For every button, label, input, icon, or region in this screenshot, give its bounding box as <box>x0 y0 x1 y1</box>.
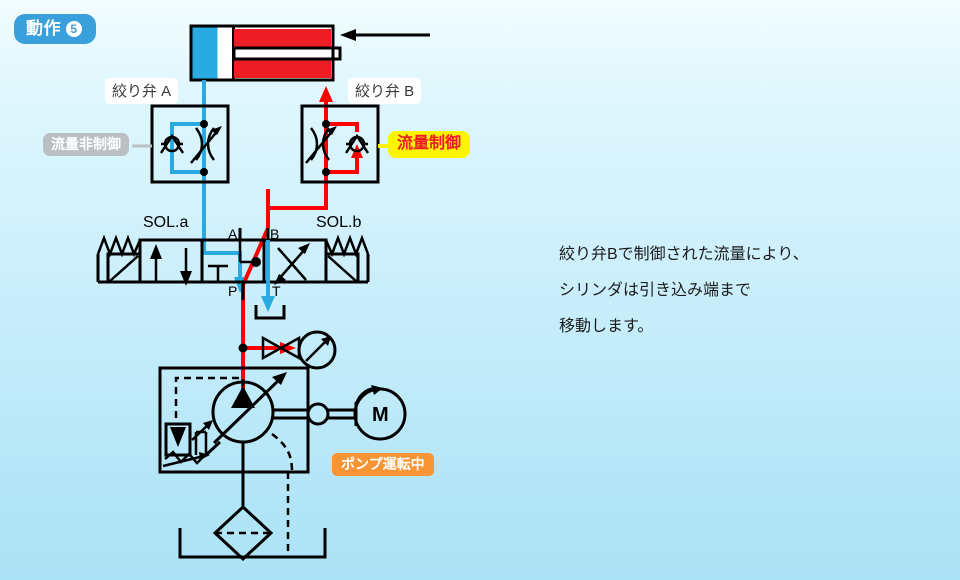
solenoid-a-actuator <box>108 254 140 282</box>
port-b-label: B <box>270 226 279 242</box>
cylinder-chamber-red-upper <box>234 29 331 48</box>
step-badge-number: 5 <box>66 21 82 37</box>
throttle-valve-a-label: 絞り弁 A <box>105 78 178 104</box>
shaft-coupling <box>308 402 356 426</box>
port-p-label: P <box>228 283 237 299</box>
solenoid-b-label: SOL.b <box>316 214 361 232</box>
throttle-valve-b-label: 絞り弁 B <box>348 78 421 104</box>
pressure-gauge <box>299 332 335 368</box>
pressure-compensator <box>163 378 243 466</box>
solenoid-b-actuator <box>326 254 358 282</box>
port-t-label: T <box>272 283 281 299</box>
piston-rod <box>234 48 340 59</box>
directional-control-valve <box>98 238 368 286</box>
cylinder-chamber-red-lower <box>234 59 331 78</box>
flow-uncontrolled-badge: 流量非制御 <box>43 133 129 156</box>
spool-position-left <box>156 248 186 282</box>
variable-displacement-pump <box>213 372 308 472</box>
description-line-3: 移動します。 <box>559 309 929 345</box>
port-a-label: A <box>228 226 237 242</box>
diagram-canvas: 動作5 絞り弁 A 絞り弁 B 流量非制御 流量制御 ポンプ運転中 SOL.a … <box>0 0 960 580</box>
description-text: 絞り弁Bで制御された流量により、 シリンダは引き込み端まで 移動します。 <box>559 237 929 345</box>
restrictor-b-adjust-arrow <box>306 126 337 163</box>
spring-right <box>326 238 368 254</box>
motion-arrow-left <box>340 29 430 41</box>
motor-label: M <box>372 404 389 427</box>
step-badge: 動作5 <box>14 14 96 44</box>
hydraulic-cylinder <box>191 26 430 80</box>
suction-filter <box>215 472 271 559</box>
flow-controlled-badge: 流量制御 <box>388 131 470 158</box>
spring-left <box>98 238 140 254</box>
spool-position-right <box>278 248 306 280</box>
step-badge-label: 動作 <box>26 19 61 38</box>
pump-running-badge: ポンプ運転中 <box>332 453 434 476</box>
solenoid-a-label: SOL.a <box>143 214 188 232</box>
cylinder-chamber-blue <box>193 28 218 79</box>
description-line-1: 絞り弁Bで制御された流量により、 <box>559 237 929 273</box>
restrictor-a-adjust-arrow <box>191 126 222 163</box>
pump-control-link <box>272 434 292 472</box>
description-line-2: シリンダは引き込み端まで <box>559 273 929 309</box>
